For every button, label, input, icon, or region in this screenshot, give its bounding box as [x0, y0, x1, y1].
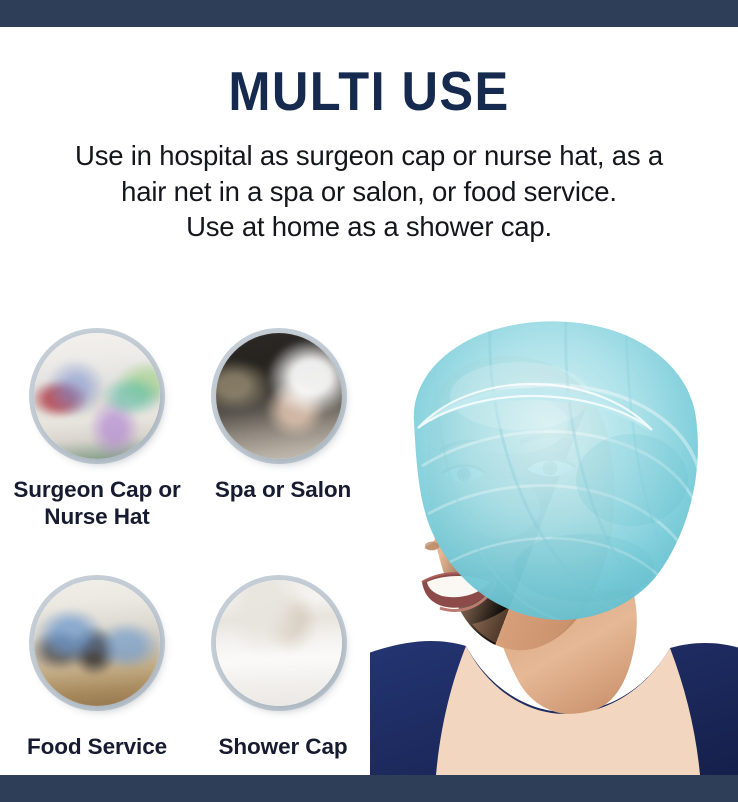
restaurant-dining-room-photo — [34, 580, 160, 706]
use-case-label-shower-cap: Shower Cap — [196, 733, 370, 760]
use-case-label-line: Shower Cap — [196, 733, 370, 760]
use-case-label-surgeon-cap-or-nurse-hat: Surgeon Cap or Nurse Hat — [0, 476, 194, 530]
use-case-image-spa-or-salon — [216, 333, 342, 459]
description-line-3: Use at home as a shower cap. — [14, 209, 724, 245]
hero-product-photo — [370, 300, 738, 775]
use-case-image-surgeon-cap-or-nurse-hat — [34, 333, 160, 459]
description-line-2: hair net in a spa or salon, or food serv… — [14, 174, 724, 210]
nostril — [425, 542, 439, 551]
page-title: MULTI USE — [30, 62, 709, 120]
description-text: Use in hospital as surgeon cap or nurse … — [14, 138, 724, 245]
woman-wearing-blue-bouffant-cap-photo — [370, 300, 738, 775]
bathroom-sink-photo — [216, 580, 342, 706]
use-case-label-line: Nurse Hat — [0, 503, 194, 530]
use-case-label-food-service: Food Service — [0, 733, 194, 760]
use-case-image-food-service — [34, 580, 160, 706]
use-case-label-line: Spa or Salon — [196, 476, 370, 503]
use-case-image-shower-cap — [216, 580, 342, 706]
salon-interior-photo — [216, 333, 342, 459]
use-case-label-line: Surgeon Cap or — [0, 476, 194, 503]
top-accent-bar — [0, 0, 738, 27]
description-line-1: Use in hospital as surgeon cap or nurse … — [14, 138, 724, 174]
use-case-label-line: Food Service — [0, 733, 194, 760]
infographic-page: MULTI USE Use in hospital as surgeon cap… — [0, 0, 738, 802]
bottom-accent-bar — [0, 775, 738, 802]
use-case-label-spa-or-salon: Spa or Salon — [196, 476, 370, 503]
hospital-operating-room-photo — [34, 333, 160, 459]
